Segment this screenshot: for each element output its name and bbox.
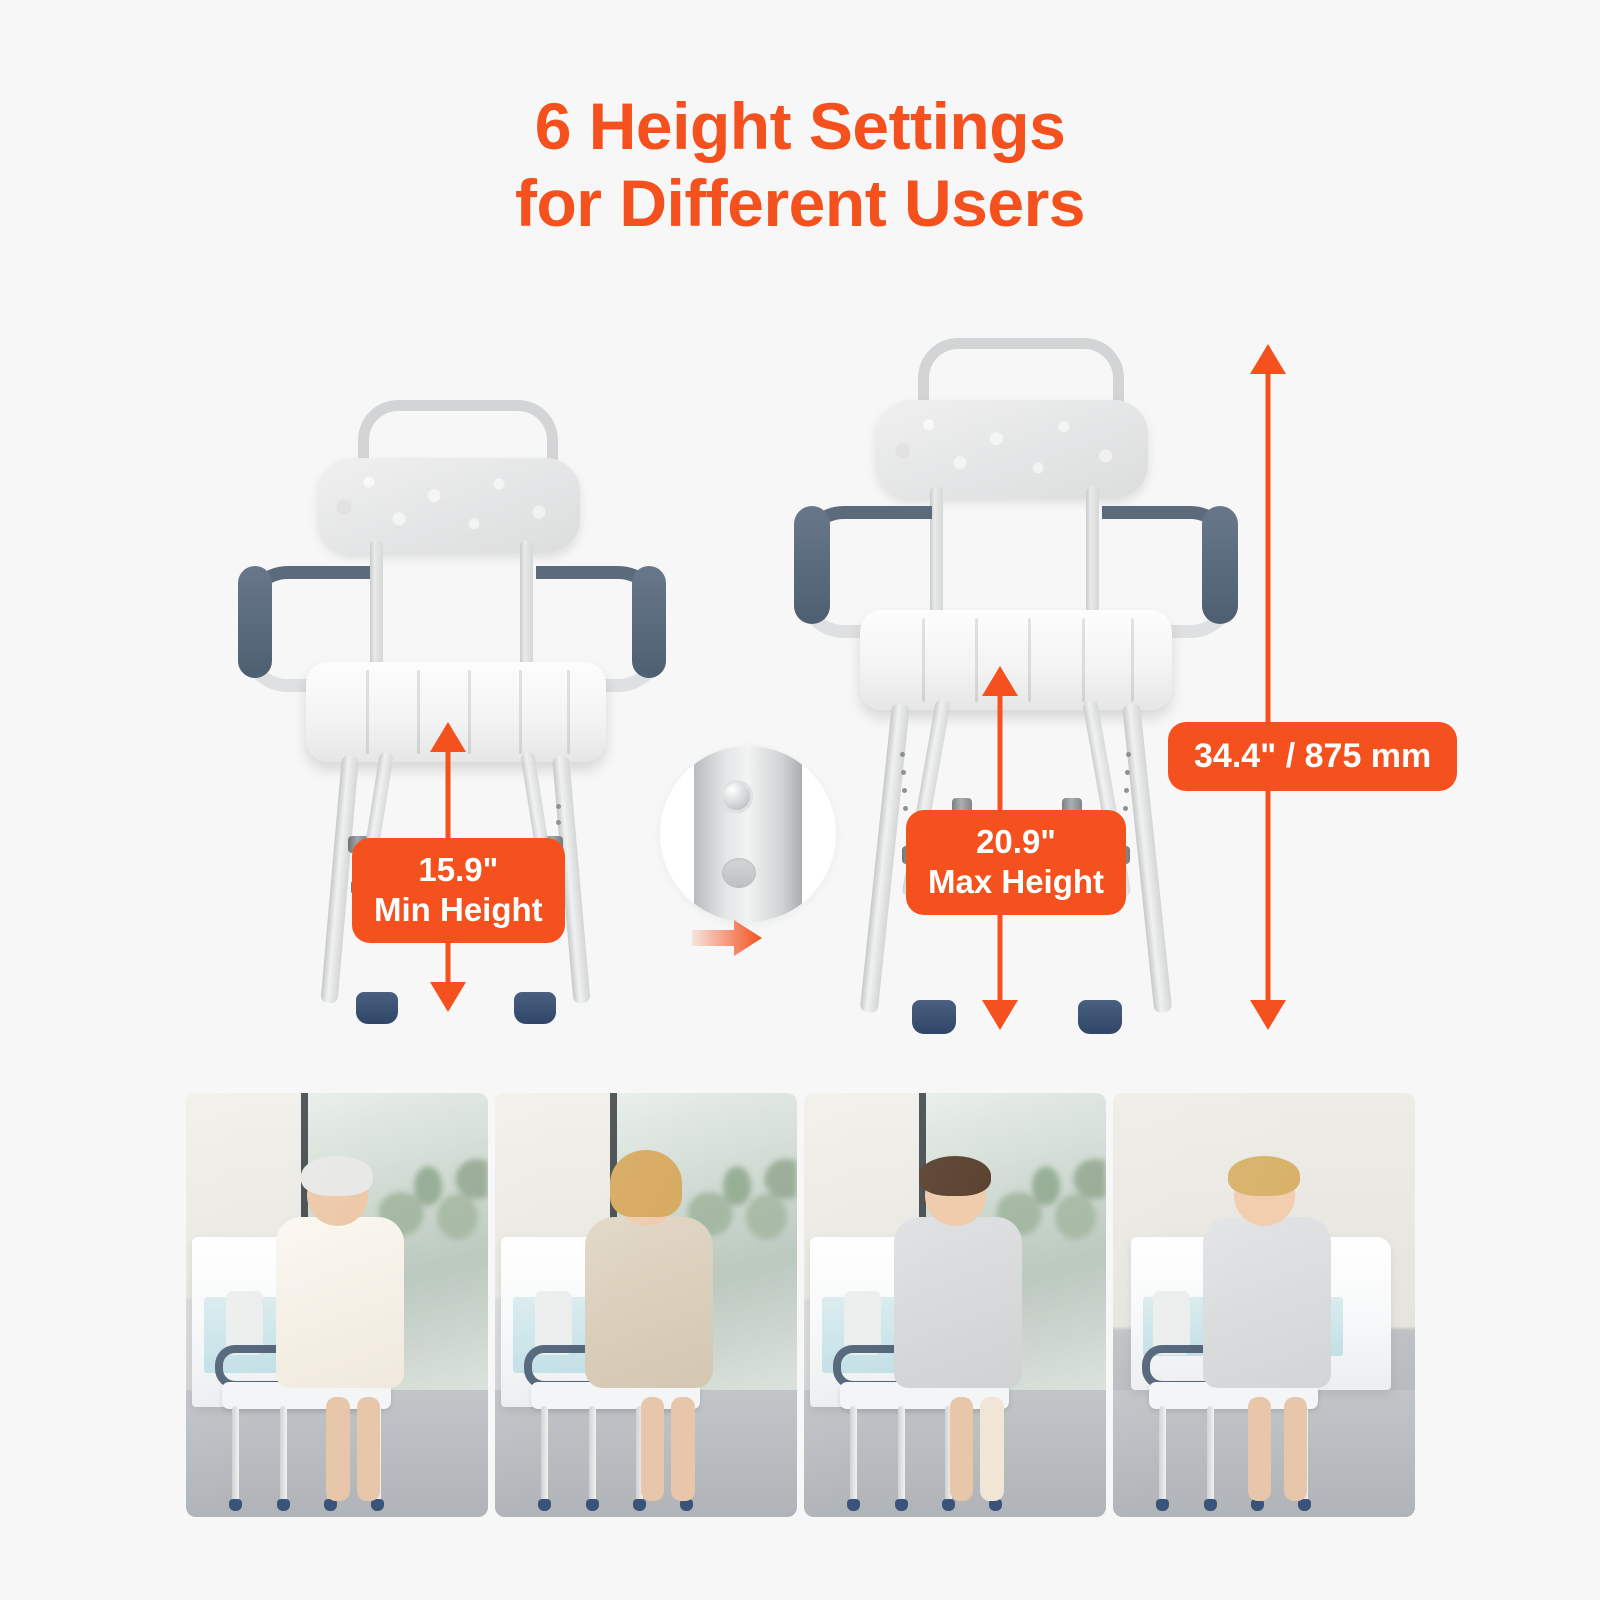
page-title: 6 Height Settings for Different Users bbox=[0, 88, 1600, 241]
backrest-pad bbox=[876, 400, 1148, 498]
photo-elderly-man bbox=[186, 1093, 488, 1517]
push-button-pin-icon bbox=[720, 780, 753, 813]
backrest-pad bbox=[318, 458, 580, 553]
title-line-1: 6 Height Settings bbox=[0, 88, 1600, 165]
rubber-foot-front-right bbox=[1078, 1000, 1122, 1034]
rubber-foot-front-right bbox=[514, 992, 556, 1024]
title-line-2: for Different Users bbox=[0, 165, 1600, 242]
arm-pad-left bbox=[794, 506, 830, 624]
photo-injured-man bbox=[804, 1093, 1106, 1517]
back-post-left bbox=[370, 540, 383, 680]
rubber-foot-front-left bbox=[356, 992, 398, 1024]
leg-tube-closeup bbox=[694, 746, 802, 922]
adjustment-hole-icon bbox=[722, 858, 756, 888]
rubber-foot-front-left bbox=[912, 1000, 956, 1034]
shower-chair-max-height bbox=[790, 338, 1260, 1028]
arm-pad-left bbox=[238, 566, 272, 678]
photo-pregnant-woman bbox=[495, 1093, 797, 1517]
photo-teen-boy bbox=[1113, 1093, 1415, 1517]
overall-height-arrow bbox=[1248, 344, 1288, 1030]
arm-pad-right bbox=[632, 566, 666, 678]
overall-height-label: 34.4" / 875 mm bbox=[1168, 722, 1457, 791]
lifestyle-photo-row bbox=[186, 1093, 1416, 1517]
arm-pad-right bbox=[1202, 506, 1238, 624]
right-arrow-icon bbox=[692, 918, 764, 958]
min-height-label: 15.9" Min Height bbox=[352, 838, 565, 943]
product-comparison-stage: 15.9" Min Height bbox=[0, 310, 1600, 1080]
max-height-label: 20.9" Max Height bbox=[906, 810, 1126, 915]
back-post-right bbox=[520, 540, 533, 680]
